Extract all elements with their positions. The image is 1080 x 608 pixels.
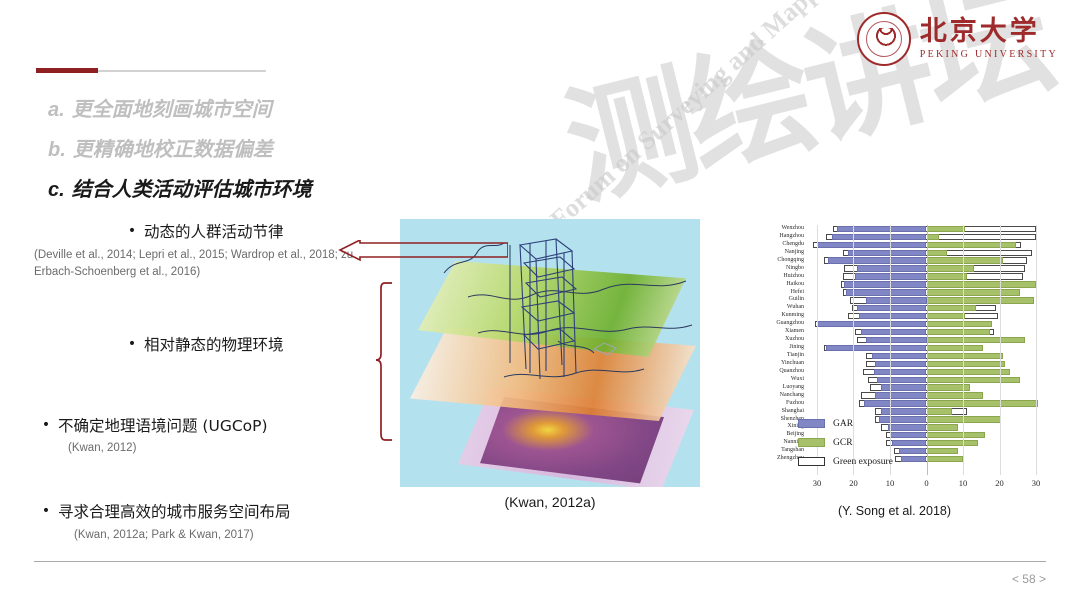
chart-category-label: Luoyang [742,384,804,392]
chart-category-label: Wenzhou [742,225,804,233]
title-accent-rule [36,68,266,73]
chart-category-label: Hefei [742,289,804,297]
bar-segment-gcr [927,361,1006,367]
bar-segment-gar [881,384,927,390]
bullet-dot-1: • [120,222,144,243]
bar-segment-gar [872,353,927,359]
bar-segment-gcr [927,226,965,232]
logo-text: 北京大学 PEKING UNIVERSITY [920,18,1058,59]
bar-segment-gcr [927,369,1011,375]
bar-segment-gar [866,297,926,303]
citation-3: (Kwan, 2012) [68,440,394,457]
bar-segment-gcr [927,353,1004,359]
chart-x-tick-label: 30 [813,478,822,488]
bullet-text-2: 相对静态的物理环境 [144,335,284,356]
heading-item-b: b.更精确地校正数据偏差 [48,130,312,170]
bar-segment-gcr [927,345,984,351]
bar-segment-gcr [927,273,967,279]
pku-seal-icon [857,12,911,66]
heading-text-a: 更全面地刻画城市空间 [72,97,272,121]
citation-4: (Kwan, 2012a; Park & Kwan, 2017) [74,527,394,544]
chart-category-label: Yinchuan [742,360,804,368]
chart-category-label: Chongqing [742,257,804,265]
slide-root: 测绘讲坛 High-level Forum on Surveying and M… [0,0,1080,608]
bar-segment-gar [846,289,926,295]
bar-segment-gcr [927,234,940,240]
bar-segment-gar [901,456,927,462]
bar-segment-gar [875,392,926,398]
chart-gridline [1000,225,1001,475]
heading-letter-c: c. [48,179,65,201]
chart-x-tick-label: 10 [959,478,968,488]
annotation-bracket-icon [372,282,394,442]
heading-letter-b: b. [48,139,66,161]
bullet-dot-2: • [120,335,144,356]
legend-swatch-gar [798,419,825,428]
accent-rule-red [36,68,98,73]
bar-segment-gar [817,321,927,327]
chart-gridline [1036,225,1037,475]
bar-segment-gar [857,265,926,271]
chart-category-label: Shanghai [742,408,804,416]
legend-entry-green-exposure: Green exposure [798,452,893,471]
bar-segment-gcr [927,440,978,446]
chart-x-axis: 3020100102030 [806,478,1047,494]
heading-list: a.更全面地刻画城市空间 b.更精确地校正数据偏差 c.结合人类活动评估城市环境 [48,90,312,210]
logo-name-en: PEKING UNIVERSITY [920,49,1058,60]
bar-segment-gcr [927,408,953,414]
bar-segment-gcr [927,250,947,256]
chart-category-label: Nanchang [742,392,804,400]
chart-category-label: Xiamen [742,328,804,336]
bar-segment-gar [817,242,927,248]
chart-x-tick-label: 10 [886,478,895,488]
legend-entry-gcr: GCR [798,433,893,452]
bar-segment-gcr [927,456,964,462]
chart-category-label: Kunming [742,312,804,320]
bullet-dot-3: • [34,416,58,437]
bar-segment-gar [859,313,927,319]
legend-swatch-gcr [798,438,825,447]
bar-segment-gar [844,281,926,287]
chart-legend: GAR GCR Green exposure [798,414,893,471]
chart-category-label: Shenzhen [742,416,804,424]
chart-category-label: Hangzhou [742,233,804,241]
chart-category-label: Tangshan [742,447,804,455]
chart-category-label: Beijing [742,431,804,439]
heading-item-a: a.更全面地刻画城市空间 [48,90,312,130]
bar-segment-gcr [927,400,1038,406]
bar-segment-gcr [927,424,958,430]
bar-segment-gcr [927,329,991,335]
bullet-item-3: • 不确定地理语境问题 (UGCoP) [34,416,394,437]
legend-label-green-exposure: Green exposure [833,457,893,467]
heading-letter-a: a. [48,99,65,121]
chart-caption: (Y. Song et al. 2018) [742,504,1047,518]
annotation-arrow-icon [338,240,508,262]
bar-segment-gar [874,369,927,375]
bullet-text-3: 不确定地理语境问题 (UGCoP) [58,416,268,437]
chart-category-label: Wuxi [742,376,804,384]
figure-caption: (Kwan, 2012a) [400,494,700,510]
chart-category-label: Huizhou [742,273,804,281]
bar-segment-gcr [927,432,985,438]
bar-segment-gar [899,448,926,454]
bullet-text-4: 寻求合理高效的城市服务空间布局 [58,502,291,523]
legend-label-gar: GAR [833,419,853,429]
figure-space-time-prism [512,237,578,387]
chart-category-label: Nanjing [742,249,804,257]
citation-1: (Deville et al., 2014; Lepri et al., 201… [34,247,364,282]
chart-category-label: Haikou [742,281,804,289]
bar-segment-gcr [927,392,984,398]
chart-x-tick-label: 30 [1032,478,1041,488]
page-number: < 58 > [1012,572,1046,586]
bar-segment-gar [832,234,927,240]
chart-category-label: Ningbo [742,265,804,273]
green-exposure-bar-chart: WenzhouHangzhouChengduNanjingChongqingNi… [742,222,1047,490]
bar-segment-gar [877,377,926,383]
bar-segment-gar [864,400,926,406]
chart-x-tick-label: 20 [995,478,1004,488]
chart-category-label: Zhengzhou [742,455,804,463]
legend-swatch-green-exposure [798,457,825,466]
bullet-text-1: 动态的人群活动节律 [144,222,284,243]
bar-segment-gcr [927,377,1020,383]
bullet-item-4: • 寻求合理高效的城市服务空间布局 [34,502,394,523]
peking-university-logo: 北京大学 PEKING UNIVERSITY [857,12,1058,66]
footer-divider [34,561,1046,562]
logo-name-cn: 北京大学 [920,18,1058,46]
chart-category-label: Chengdu [742,241,804,249]
bar-segment-gcr [927,257,1004,263]
chart-category-labels: WenzhouHangzhouChengduNanjingChongqingNi… [742,225,804,463]
bar-segment-gar [875,361,926,367]
bar-segment-gcr [927,242,1016,248]
chart-category-label: Quanzhou [742,368,804,376]
bar-segment-gar [837,226,926,232]
bar-segment-gar [861,329,927,335]
bar-segment-gcr [927,448,958,454]
accent-rule-grey [98,70,266,72]
bar-segment-gcr [927,305,976,311]
chart-category-label: Xining [742,423,804,431]
legend-label-gcr: GCR [833,438,853,448]
chart-gridline [927,225,928,475]
heading-text-b: 更精确地校正数据偏差 [73,137,273,161]
bar-segment-gar [890,432,927,438]
bar-segment-gcr [927,297,1035,303]
chart-category-label: Xuzhou [742,336,804,344]
bar-segment-gcr [927,337,1026,343]
bar-segment-gcr [927,281,1037,287]
chart-category-label: Jining [742,344,804,352]
bar-segment-gcr [927,321,993,327]
bar-segment-gar [857,305,926,311]
bar-segment-gcr [927,289,1020,295]
bullet-column: • 动态的人群活动节律 (Deville et al., 2014; Lepri… [34,222,394,545]
bar-segment-gcr [927,313,965,319]
chart-x-tick-label: 0 [924,478,928,488]
legend-entry-gar: GAR [798,414,893,433]
bullet-dot-4: • [34,502,58,523]
chart-category-label: Wuhan [742,304,804,312]
heading-item-c: c.结合人类活动评估城市环境 [48,170,312,210]
bar-segment-gar [866,337,926,343]
bar-segment-gcr [927,265,974,271]
chart-category-label: Guilin [742,296,804,304]
bar-segment-gar [828,257,927,263]
chart-gridline [963,225,964,475]
bar-segment-gar [892,440,927,446]
bullet-item-2: • 相对静态的物理环境 [34,335,394,356]
chart-category-label: Fuzhou [742,400,804,408]
heading-text-c: 结合人类活动评估城市环境 [72,177,312,201]
chart-category-label: Nanning [742,439,804,447]
chart-category-label: Guangzhou [742,320,804,328]
chart-category-label: Tianjin [742,352,804,360]
bar-segment-gar [848,250,927,256]
chart-x-tick-label: 20 [849,478,858,488]
bar-segment-gar [888,424,926,430]
bar-segment-gar [826,345,926,351]
